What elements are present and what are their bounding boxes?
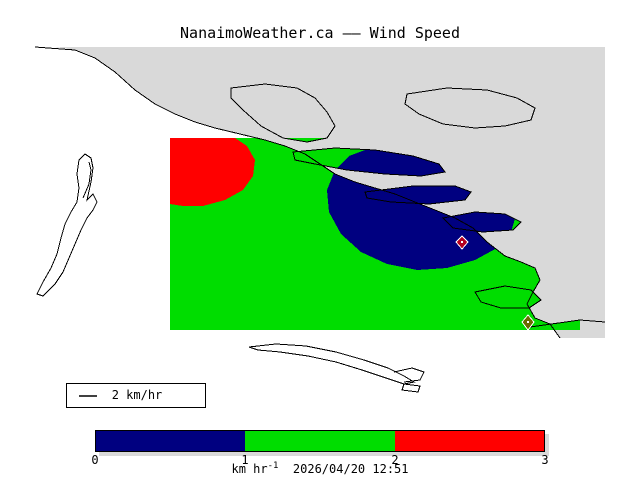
colorbar-bar: [95, 430, 545, 452]
colorbar-caption: km hr-1 2026/04/20 12:51: [0, 461, 640, 476]
colorbar-units-exponent: -1: [268, 461, 279, 471]
map-canvas[interactable]: [35, 42, 605, 338]
colorbar-segment-mid: [245, 431, 394, 451]
page-title: NanaimoWeather.ca —— Wind Speed: [0, 24, 640, 42]
wind-barb-legend-label: 2 km/hr: [67, 388, 207, 402]
colorbar-segment-low: [96, 431, 245, 451]
colorbar-segment-high: [395, 431, 544, 451]
colorbar-units: km hr: [231, 462, 267, 476]
wind-barb-legend: 2 km/hr: [66, 383, 206, 408]
colorbar: 0 1 2 3: [95, 430, 545, 452]
map-panel[interactable]: [35, 42, 605, 338]
colorbar-timestamp: 2026/04/20 12:51: [293, 462, 409, 476]
weather-map-page: NanaimoWeather.ca —— Wind Speed: [0, 0, 640, 480]
